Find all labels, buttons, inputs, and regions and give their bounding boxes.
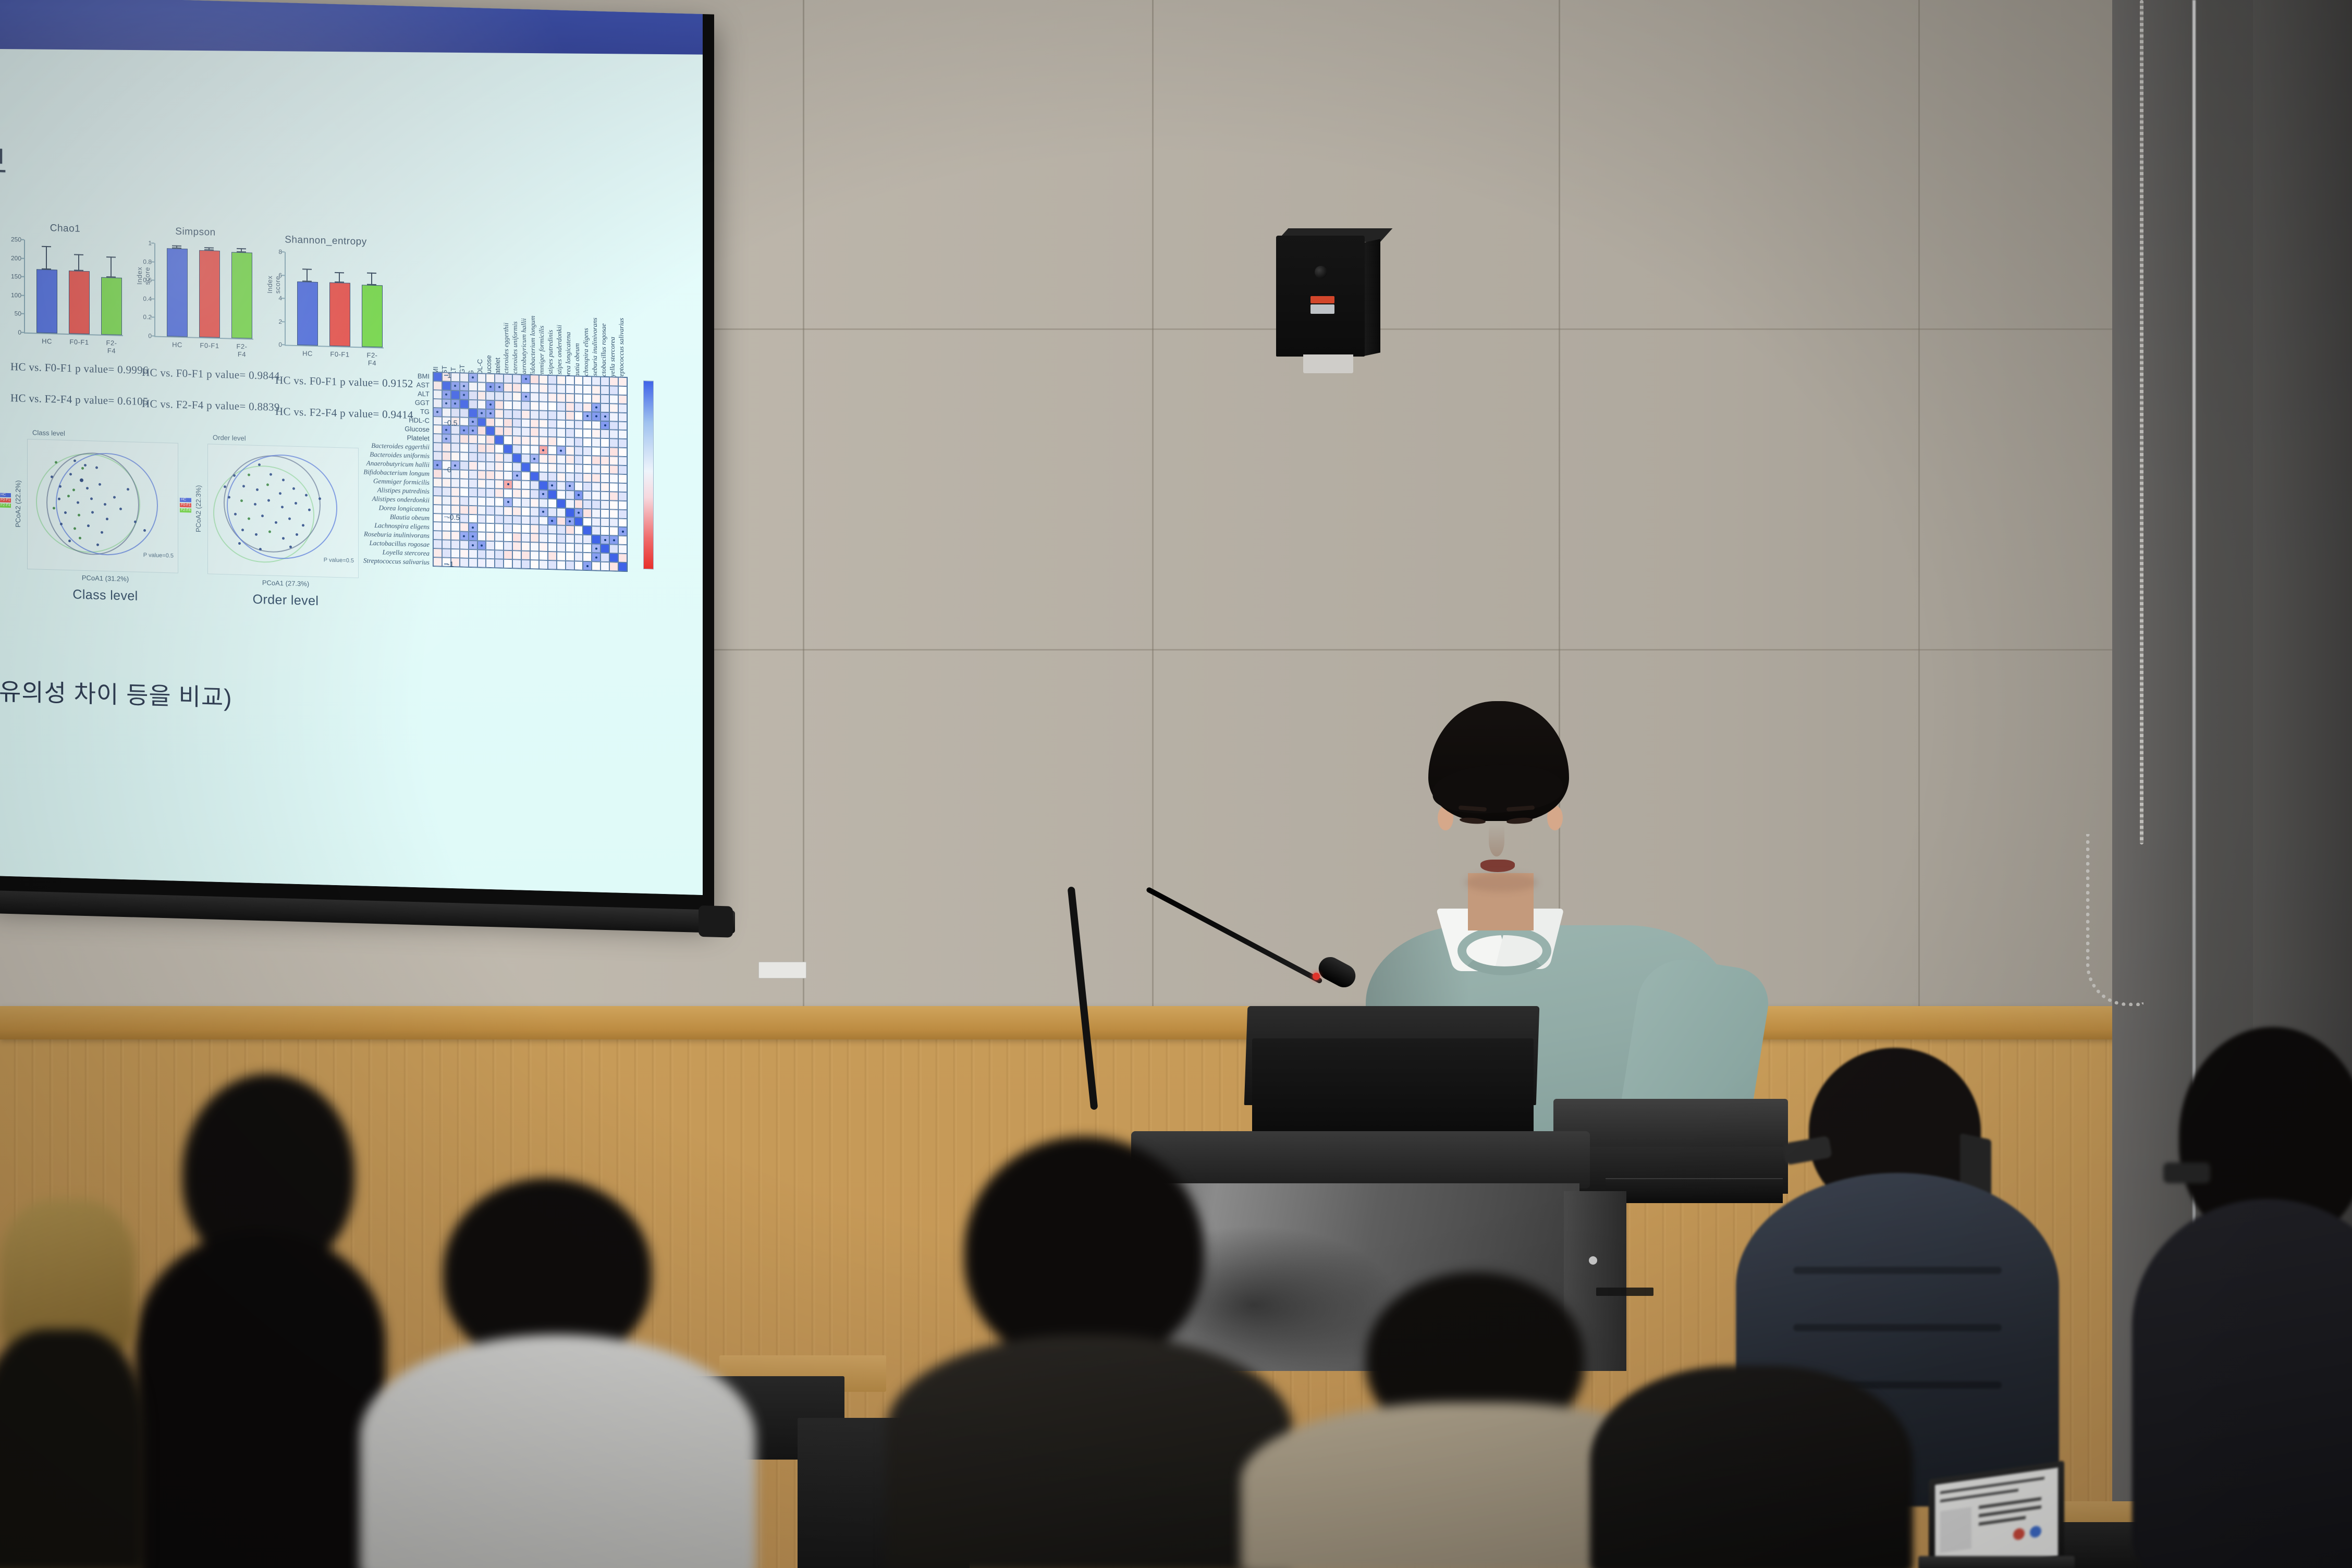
- heatmap-cell: [442, 478, 451, 487]
- heatmap-cell: [566, 455, 574, 464]
- significance-marker: [586, 415, 589, 417]
- wall-seam: [803, 0, 804, 1006]
- heatmap-cell: [504, 454, 512, 462]
- heatmap-row-label: Alistipes onderdonkii: [372, 494, 430, 504]
- heatmap-cell: [460, 505, 469, 514]
- heatmap-cell: [469, 435, 477, 444]
- heatmap-cell: [609, 456, 618, 465]
- significance-marker: [595, 547, 597, 549]
- heatmap-cell: [530, 428, 539, 437]
- bar-hc: [36, 269, 57, 334]
- presentation-slide: 이터 확보 Chao1 0 50 100 150: [0, 0, 703, 895]
- significance-marker: [445, 429, 447, 431]
- heatmap-cell: [548, 543, 557, 552]
- heatmap-cell: [477, 532, 486, 541]
- heatmap-cell: [495, 488, 504, 497]
- significance-marker: [454, 402, 456, 405]
- heatmap-cell: [618, 448, 627, 457]
- pvalue-text: HC vs. F2-F4 p value= 0.8839: [142, 397, 280, 414]
- heatmap-cell: [539, 543, 548, 552]
- heatmap-cell: [548, 384, 557, 393]
- heatmap-cell: [609, 439, 618, 448]
- heatmap-cell: [512, 419, 521, 427]
- heatmap-cell: [557, 508, 566, 517]
- heatmap-cell: [609, 544, 618, 553]
- significance-marker: [551, 520, 553, 522]
- heatmap-cell: [530, 445, 539, 454]
- heatmap-cell: [486, 444, 495, 453]
- heatmap-cell: [495, 541, 504, 550]
- heatmap-column-labels: BMIASTALTGGTTGHDL-CGlucosePlateletBacter…: [433, 283, 678, 290]
- heatmap-cell: [460, 426, 469, 435]
- heatmap-cell: [601, 421, 609, 430]
- y-tick: 250: [11, 236, 21, 243]
- pcoa-legend: HC F0-F1 F2-F4: [180, 498, 191, 513]
- heatmap-cell: [539, 401, 548, 410]
- jbl-logo-mark: [1310, 304, 1334, 314]
- significance-marker: [595, 407, 597, 409]
- speaker-bracket: [1303, 354, 1353, 373]
- heatmap-cell: [460, 452, 469, 461]
- heatmap-column-label: Streptococcus salivarius: [617, 318, 626, 384]
- heatmap-grid: [433, 372, 628, 572]
- heatmap-cell: [433, 443, 442, 451]
- pcoa-plot-class-level: Class level PCoA2 (22.2%): [27, 439, 183, 594]
- jacket-seam: [1793, 1324, 2002, 1331]
- y-axis-label: PCoA2 (22.3%): [194, 485, 202, 532]
- bar-hc: [297, 281, 318, 346]
- heatmap-cell: [504, 506, 512, 515]
- heatmap-cell: [477, 435, 486, 444]
- heatmap-colorbar: [643, 381, 654, 570]
- heatmap-cell: [539, 455, 548, 463]
- heatmap-cell: [486, 453, 495, 462]
- heatmap-column-label: Gemmiger formicilis: [537, 325, 546, 382]
- heatmap-cell: [512, 516, 521, 524]
- heatmap-cell: [592, 456, 601, 464]
- heatmap-cell: [618, 412, 627, 421]
- heatmap-row-label: Lactobacillus rogosae: [370, 538, 430, 548]
- heatmap-cell: [539, 472, 548, 481]
- heatmap-cell: [495, 462, 504, 471]
- heatmap-cell: [539, 507, 548, 516]
- pcoa-plot-order-level: Order level PCoA2 (22.3%): [207, 444, 364, 599]
- heatmap-cell: [601, 526, 609, 535]
- heatmap-cell: [530, 436, 539, 445]
- heatmap-cell: [521, 445, 530, 454]
- heatmap-cell: [583, 385, 592, 394]
- heatmap-cell: [451, 452, 460, 461]
- heatmap-cell: [557, 552, 566, 561]
- heatmap-cell: [433, 540, 442, 548]
- heatmap-row-label: Lachnospira eligens: [374, 521, 430, 531]
- head: [964, 1136, 1204, 1366]
- heatmap-cell: [557, 375, 566, 384]
- bar-f0f1: [329, 282, 350, 346]
- heatmap-row-label: Bacteroides eggerthii: [371, 441, 430, 451]
- heatmap-cell: [583, 500, 592, 509]
- heatmap-cell: [557, 455, 566, 464]
- heatmap-cell: [548, 446, 557, 455]
- heatmap-cell: [566, 543, 574, 552]
- heatmap-cell: [486, 550, 495, 559]
- pcoa-top-caption: Order level: [213, 434, 246, 443]
- speaker-body: [1276, 236, 1365, 357]
- heatmap-cell: [460, 532, 469, 541]
- heatmap-cell: [574, 402, 583, 411]
- heatmap-cell: [495, 400, 504, 409]
- heatmap-cell: [451, 479, 460, 487]
- heatmap-cell: [574, 447, 583, 456]
- significance-marker: [489, 403, 492, 406]
- heatmap-cell: [504, 409, 512, 418]
- heatmap-cell: [469, 523, 477, 532]
- heatmap-cell: [548, 428, 557, 437]
- significance-marker: [613, 539, 615, 541]
- heatmap-cell: [601, 500, 609, 509]
- significance-marker: [436, 411, 438, 413]
- legend-f2f4: F2-F4: [180, 508, 191, 513]
- heatmap-cell: [601, 562, 609, 571]
- heatmap-cell: [618, 509, 627, 518]
- significance-marker: [472, 430, 474, 432]
- heatmap-cell: [495, 427, 504, 436]
- heatmap-cell: [433, 496, 442, 505]
- heatmap-cell: [557, 464, 566, 473]
- heatmap-cell: [574, 385, 583, 394]
- heatmap-cell: [609, 474, 618, 483]
- heatmap-cell: [548, 552, 557, 560]
- heatmap-cell: [469, 532, 477, 541]
- heatmap-cell: [477, 558, 486, 567]
- heatmap-cell: [539, 481, 548, 489]
- heatmap-cell: [477, 461, 486, 470]
- bar-chart-shannon-entropy: Shannon_entropy Index score 0 2 4 6 8: [261, 237, 391, 360]
- heatmap-cell: [433, 531, 442, 540]
- heatmap-cell: [495, 497, 504, 506]
- error-bar: [46, 246, 47, 269]
- heatmap-cell: [601, 465, 609, 474]
- heatmap-cell: [609, 536, 618, 545]
- heatmap-cell: [442, 443, 451, 452]
- heatmap-cell: [618, 386, 627, 395]
- heatmap-cell: [574, 544, 583, 553]
- heatmap-cell: [469, 452, 477, 461]
- heatmap-cell: [442, 549, 451, 558]
- heatmap-cell: [512, 498, 521, 507]
- heatmap-cell: [592, 509, 601, 518]
- heatmap-cell: [566, 437, 574, 446]
- heatmap-cell: [566, 499, 574, 508]
- heatmap-cell: [557, 543, 566, 552]
- heatmap-cell: [592, 535, 601, 544]
- heatmap-cell: [548, 402, 557, 411]
- significance-marker: [454, 385, 456, 387]
- legend-f2f4: F2-F4: [0, 504, 11, 508]
- pvalue-text: HC vs. F0-F1 p value= 0.9844: [142, 366, 280, 383]
- heatmap-cell: [504, 445, 512, 454]
- heatmap-cell: [557, 472, 566, 481]
- legend-hc: HC: [180, 498, 191, 503]
- heatmap-cell: [618, 554, 627, 562]
- y-tick: 0.8: [143, 258, 152, 265]
- heatmap-cell: [530, 463, 539, 472]
- heatmap-cell: [583, 508, 592, 517]
- podium-monitor-panel[interactable]: [1252, 1038, 1534, 1143]
- heatmap-cell: [539, 419, 548, 428]
- y-tick: 0.4: [143, 295, 152, 302]
- x-tick: F2-F4: [236, 342, 248, 359]
- heatmap-cell: [451, 399, 460, 408]
- laptop-screen: [1935, 1467, 2058, 1568]
- heatmap-cell: [495, 550, 504, 559]
- x-tick: F0-F1: [330, 350, 349, 359]
- heatmap-cell: [530, 542, 539, 551]
- significance-marker: [489, 386, 492, 388]
- heatmap-cell: [530, 498, 539, 507]
- heatmap-cell: [574, 526, 583, 535]
- heatmap-cell: [486, 497, 495, 506]
- heatmap-cell: [451, 373, 460, 382]
- heatmap-cell: [521, 472, 530, 481]
- error-bar: [176, 246, 177, 249]
- heatmap-cell: [504, 436, 512, 445]
- heatmap-row-label: Gemmiger formicilis: [373, 476, 430, 486]
- heatmap-row-label: Dorea longicatena: [379, 504, 430, 513]
- heatmap-cell: [521, 560, 530, 569]
- heatmap-cell: [477, 541, 486, 550]
- heatmap-column-label: Lactobacillus rogosae: [599, 323, 608, 384]
- significance-marker: [463, 394, 465, 396]
- heatmap-cell: [539, 516, 548, 525]
- heatmap-cell: [548, 393, 557, 402]
- heatmap-cell: [574, 517, 583, 526]
- heatmap-cell: [469, 408, 477, 417]
- screen-roller-end: [699, 905, 733, 938]
- y-tick: 200: [11, 254, 21, 262]
- heatmap-cell: [601, 386, 609, 395]
- x-axis-label: PCoA1 (27.3%): [207, 577, 364, 589]
- podium-lock-icon[interactable]: [1589, 1256, 1597, 1265]
- projection-screen: 이터 확보 Chao1 0 50 100 150: [0, 0, 703, 895]
- error-bar: [78, 254, 79, 271]
- heatmap-cell: [477, 470, 486, 479]
- heatmap-cell: [566, 525, 574, 534]
- heatmap-cell: [442, 496, 451, 505]
- heatmap-cell: [530, 375, 539, 384]
- heatmap-cell: [609, 412, 618, 421]
- colorbar-tick: 1: [447, 371, 451, 379]
- heatmap-cell: [442, 522, 451, 531]
- significance-marker: [542, 493, 544, 495]
- heatmap-cell: [601, 553, 609, 562]
- heatmap-cell: [433, 522, 442, 531]
- heatmap-cell: [512, 550, 521, 559]
- heatmap-cell: [601, 438, 609, 447]
- heatmap-cell: [512, 427, 521, 436]
- heatmap-cell: [539, 552, 548, 560]
- heatmap-cell: [442, 434, 451, 443]
- heatmap-cell: [504, 392, 512, 401]
- heatmap-cell: [530, 384, 539, 393]
- heatmap-cell: [469, 479, 477, 488]
- significance-marker: [507, 483, 509, 485]
- heatmap-column-label: Bifidobacterium longum: [529, 315, 537, 382]
- heatmap-cell: [512, 542, 521, 550]
- heatmap-cell: [583, 376, 592, 385]
- heatmap-cell: [557, 499, 566, 508]
- laptop-lid[interactable]: [1929, 1461, 2064, 1568]
- heatmap-cell: [451, 540, 460, 549]
- heatmap-cell: [601, 492, 609, 500]
- blind-bead-chain-loop[interactable]: [2086, 834, 2143, 1006]
- heatmap-cell: [583, 438, 592, 447]
- heatmap-cell: [451, 434, 460, 443]
- jbl-logo-bar: [1310, 296, 1334, 303]
- heatmap-cell: [566, 420, 574, 428]
- heatmap-cell: [469, 391, 477, 400]
- heatmap-cell: [601, 412, 609, 421]
- pvalue-text: HC vs. F0-F1 p value= 0.9152: [275, 374, 413, 390]
- heatmap-cell: [460, 408, 469, 417]
- heatmap-cell: [557, 420, 566, 428]
- bar-f0f1: [199, 250, 220, 338]
- heatmap-cell: [433, 434, 442, 443]
- slide-title: 이터 확보: [0, 132, 8, 183]
- significance-marker: [481, 544, 483, 546]
- heatmap-cell: [512, 392, 521, 401]
- heatmap-cell: [618, 545, 627, 554]
- heatmap-cell: [460, 523, 469, 532]
- heatmap-cell: [451, 522, 460, 531]
- chin-shadow: [1465, 873, 1538, 892]
- heatmap-cell: [583, 429, 592, 438]
- heatmap-cell: [477, 549, 486, 558]
- heatmap-row-label: HDL-C: [409, 416, 430, 424]
- heatmap-cell: [574, 473, 583, 482]
- heatmap-cell: [574, 456, 583, 464]
- heatmap-cell: [512, 436, 521, 445]
- heatmap-cell: [609, 403, 618, 412]
- wall-seam: [1152, 0, 1154, 1006]
- heatmap-cell: [574, 438, 583, 447]
- heatmap-cell: [548, 560, 557, 569]
- heatmap-cell: [618, 536, 627, 545]
- heatmap-cell: [433, 425, 442, 434]
- heatmap-cell: [574, 553, 583, 561]
- heatmap-cell: [574, 561, 583, 570]
- heatmap-cell: [583, 420, 592, 429]
- heatmap-cell: [601, 518, 609, 526]
- heatmap-cell: [618, 518, 627, 527]
- heatmap-cell: [539, 437, 548, 446]
- significance-marker: [604, 539, 606, 541]
- heatmap-cell: [433, 390, 442, 399]
- pcoa-top-caption: Class level: [32, 428, 65, 437]
- torso: [1590, 1366, 1913, 1568]
- heatmap-cell: [557, 490, 566, 499]
- heatmap-cell: [486, 418, 495, 426]
- heatmap-cell: [574, 429, 583, 438]
- heatmap-cell: [433, 408, 442, 416]
- heatmap-cell: [521, 454, 530, 463]
- heatmap-cell: [442, 540, 451, 549]
- heatmap-cell: [477, 444, 486, 453]
- heatmap-cell: [601, 456, 609, 465]
- pvalue-text: HC vs. F2-F4 p value= 0.6105: [10, 391, 149, 408]
- heatmap-cell: [609, 527, 618, 536]
- heatmap-cell: [609, 395, 618, 403]
- significance-marker: [533, 458, 535, 460]
- heatmap-cell: [557, 428, 566, 437]
- heatmap-cell: [583, 456, 592, 464]
- heatmap-cell: [539, 384, 548, 393]
- heatmap-cell: [609, 430, 618, 439]
- heatmap-cell: [557, 393, 566, 402]
- heatmap-cell: [477, 400, 486, 409]
- heatmap-cell: [521, 419, 530, 427]
- significance-marker: [525, 396, 527, 398]
- heatmap-cell: [486, 426, 495, 435]
- heatmap-cell: [495, 391, 504, 400]
- heatmap-cell: [486, 383, 495, 391]
- laptop-base[interactable]: [1918, 1556, 2075, 1568]
- heatmap-cell: [477, 373, 486, 382]
- heatmap-cell: [512, 401, 521, 410]
- x-axis-label: PCoA1 (31.2%): [27, 572, 183, 584]
- heatmap-cell: [530, 472, 539, 481]
- heatmap-cell: [512, 533, 521, 542]
- significance-marker: [472, 376, 474, 378]
- heatmap-cell: [504, 497, 512, 506]
- heatmap-row-label: GGT: [415, 398, 430, 407]
- heatmap-cell: [495, 506, 504, 515]
- heatmap-cell: [433, 557, 442, 566]
- heatmap-row-label: Platelet: [407, 434, 430, 442]
- heatmap-cell: [451, 425, 460, 434]
- heatmap-cell: [530, 560, 539, 569]
- heatmap-column-label: Lachnospira eligens: [582, 328, 590, 383]
- heatmap-cell: [574, 535, 583, 544]
- heatmap-cell: [521, 392, 530, 401]
- heatmap-row-label: ALT: [418, 389, 430, 398]
- heatmap-cell: [495, 409, 504, 418]
- x-tick: F0-F1: [69, 338, 89, 346]
- heatmap-cell: [548, 455, 557, 463]
- heatmap-cell: [592, 526, 601, 535]
- heatmap-cell: [504, 400, 512, 409]
- heatmap-cell: [469, 549, 477, 558]
- heatmap-cell: [460, 399, 469, 408]
- heatmap-cell: [469, 417, 477, 426]
- heatmap-cell: [583, 491, 592, 500]
- heatmap-cell: [521, 427, 530, 436]
- heatmap-cell: [460, 461, 469, 470]
- heatmap-cell: [504, 542, 512, 550]
- y-tick: 0.6: [143, 276, 152, 284]
- heatmap-cell: [609, 562, 618, 571]
- blind-bead-chain[interactable]: [2140, 0, 2143, 844]
- heatmap-cell: [618, 403, 627, 412]
- heatmap-cell: [477, 409, 486, 418]
- heatmap-cell: [486, 506, 495, 514]
- heatmap-row-label: Streptococcus salivarius: [363, 556, 430, 566]
- heatmap-cell: [609, 553, 618, 562]
- heatmap-cell: [521, 375, 530, 384]
- heatmap-cell: [592, 491, 601, 500]
- y-tick: 100: [11, 291, 21, 299]
- heatmap-cell: [583, 553, 592, 561]
